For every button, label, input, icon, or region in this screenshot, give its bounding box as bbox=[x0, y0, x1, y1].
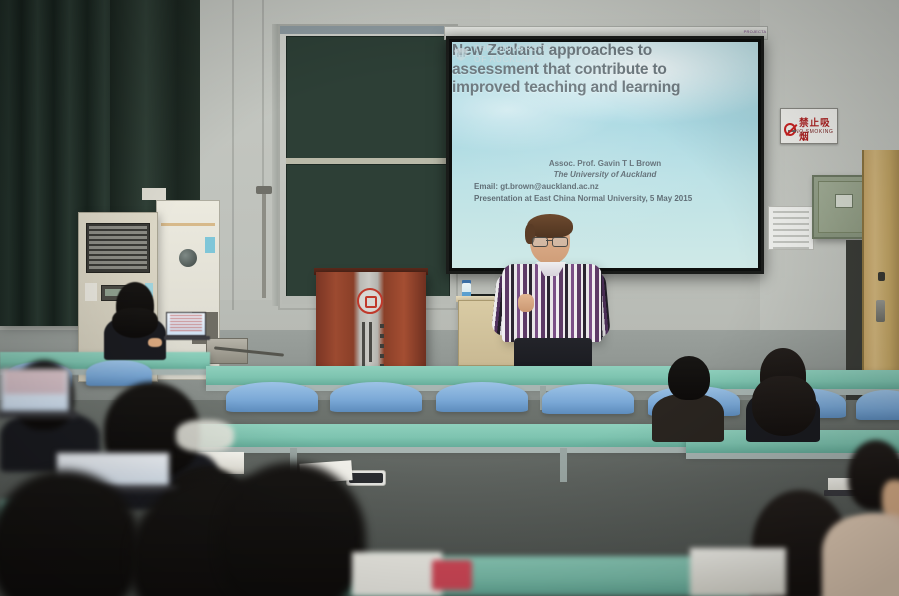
student-foreground-left bbox=[0, 470, 150, 596]
student-mid-right-female bbox=[744, 348, 824, 444]
cabinet-strip bbox=[161, 223, 215, 226]
speaker-stand-pole bbox=[262, 190, 266, 298]
chair bbox=[226, 382, 318, 412]
electrical-cabinet-window bbox=[835, 194, 853, 208]
slide-occasion: Presentation at East China Normal Univer… bbox=[474, 193, 724, 204]
podium-vent-slots bbox=[362, 322, 380, 366]
screen-brand-label: PROJECTA bbox=[740, 28, 770, 35]
no-smoking-text-en: NO SMOKING bbox=[795, 129, 834, 135]
slide-presenter: Assoc. Prof. Gavin T L Brown bbox=[452, 158, 758, 169]
electrical-cabinet-door[interactable] bbox=[818, 181, 866, 233]
classroom-photo: PROJECTA New Zealand approaches to asses… bbox=[0, 0, 899, 596]
presenter bbox=[494, 218, 614, 378]
university-logo: THE UNIVERSITY OF AUCKLAND bbox=[452, 98, 544, 124]
plastic-bag bbox=[176, 420, 236, 454]
university-logo-text: THE UNIVERSITY OF AUCKLAND bbox=[474, 43, 553, 65]
student-foreground-center-right bbox=[218, 462, 368, 596]
air-conditioner-vent bbox=[86, 223, 150, 273]
wall-mounted-box bbox=[142, 188, 166, 200]
podium-indicator-dots bbox=[380, 324, 384, 366]
air-conditioner-label bbox=[85, 283, 97, 301]
wall-seam bbox=[232, 0, 234, 310]
chalkboard-panel-upper bbox=[286, 36, 450, 160]
notebook bbox=[690, 548, 786, 596]
laptop[interactable] bbox=[0, 368, 74, 422]
chair bbox=[436, 382, 528, 412]
chair bbox=[542, 384, 634, 414]
no-smoking-sign: 禁止吸烟 NO SMOKING bbox=[780, 108, 838, 144]
presenter-hand bbox=[518, 294, 534, 312]
chair bbox=[330, 382, 422, 412]
cabinet-sticker bbox=[205, 237, 215, 253]
door-handle[interactable] bbox=[876, 300, 885, 322]
red-pencil-case bbox=[432, 560, 472, 590]
student-mid-right-male bbox=[652, 356, 722, 440]
university-logo-line2: OF AUCKLAND bbox=[474, 54, 553, 65]
chalkboard-rail bbox=[280, 26, 452, 34]
notebook bbox=[352, 552, 442, 596]
chair bbox=[856, 390, 899, 420]
wall-seam-secondary bbox=[262, 0, 264, 200]
student-back-left bbox=[104, 282, 166, 358]
slide-email: Email: gt.brown@auckland.ac.nz bbox=[474, 181, 599, 192]
university-logo-line1: THE UNIVERSITY bbox=[474, 43, 553, 54]
speaker-stand-head bbox=[256, 186, 272, 194]
desk-row-2 bbox=[196, 424, 686, 448]
door-lock-icon[interactable] bbox=[878, 272, 885, 281]
glasses-icon bbox=[532, 237, 568, 245]
desk-leg bbox=[560, 448, 567, 482]
ecnu-emblem-icon bbox=[357, 288, 383, 314]
slide-affiliation: The University of Auckland bbox=[452, 169, 758, 180]
laptop[interactable] bbox=[166, 312, 208, 342]
cabinet-dial[interactable] bbox=[179, 249, 197, 267]
wall-notice bbox=[768, 206, 814, 250]
university-crest-icon bbox=[452, 45, 470, 63]
